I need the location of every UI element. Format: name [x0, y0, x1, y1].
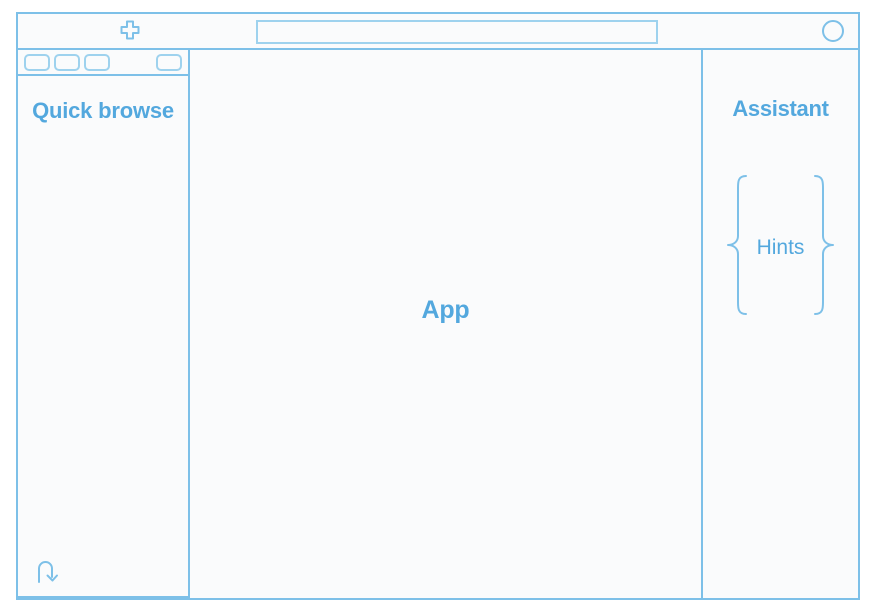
app-label: App: [422, 296, 470, 325]
tab-chip-3[interactable]: [84, 54, 110, 71]
tab-chip-overflow[interactable]: [156, 54, 182, 71]
sidebar-tabstrip: [18, 50, 188, 76]
plus-icon[interactable]: [98, 14, 162, 48]
assistant-title: Assistant: [732, 96, 828, 122]
window-header: [18, 14, 858, 50]
sidebar-footer: [18, 550, 188, 598]
u-turn-arrow-icon[interactable]: [34, 557, 60, 590]
browser-window: Quick browse App Assistant: [16, 12, 860, 600]
left-curly-brace: [725, 174, 751, 321]
right-curly-brace: [810, 174, 836, 321]
hints-label: Hints: [757, 236, 805, 260]
assistant-panel: Assistant Hints: [703, 50, 858, 598]
address-input[interactable]: [256, 20, 658, 44]
app-canvas[interactable]: App: [190, 50, 703, 598]
sidebar-title: Quick browse: [28, 98, 178, 125]
tab-chip-2[interactable]: [54, 54, 80, 71]
circle-avatar-icon[interactable]: [822, 20, 844, 42]
tab-chip-1[interactable]: [24, 54, 50, 71]
sidebar-body: Quick browse: [18, 76, 188, 598]
workspace: Quick browse App Assistant: [18, 50, 858, 598]
hints-group: Hints: [725, 174, 837, 321]
sidebar-quick-browse: Quick browse: [18, 50, 190, 598]
